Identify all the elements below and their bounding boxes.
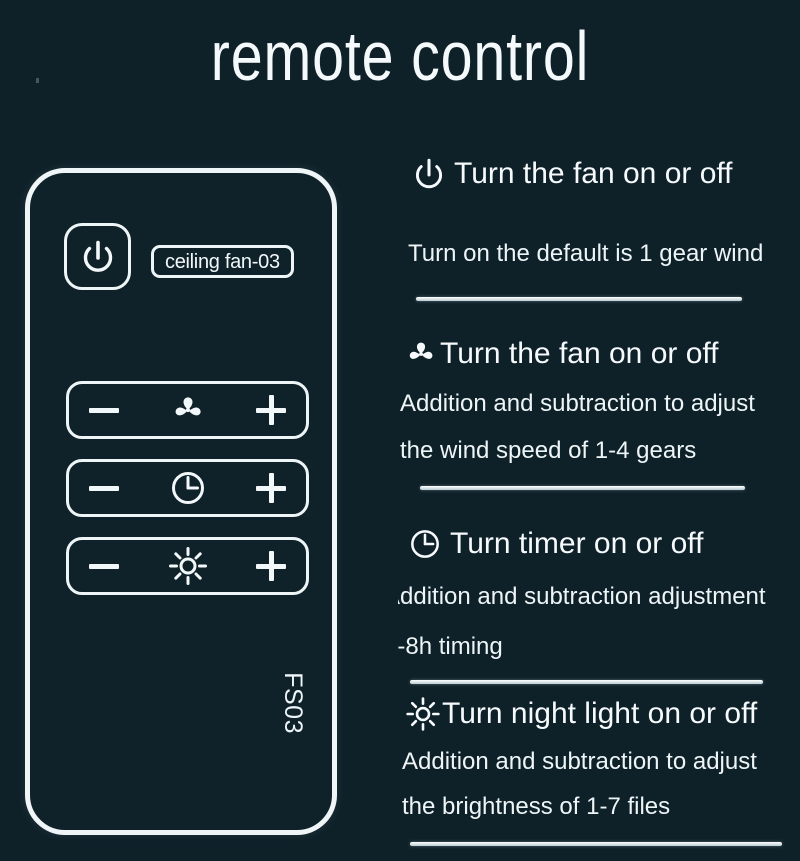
feature-divider [410, 842, 782, 846]
remote-body: ceiling fan-03 [25, 168, 337, 835]
feature-heading-row: Turn night light on or off [404, 695, 800, 733]
feature-block-fan: Turn the fan on or off Addition and subt… [398, 335, 800, 490]
brightness-icon [167, 545, 209, 587]
feature-list: Turn the fan on or off Turn on the defau… [398, 155, 800, 861]
power-icon [410, 155, 448, 193]
brightness-plus-button[interactable] [252, 547, 290, 585]
power-icon [78, 237, 118, 277]
feature-heading-row: Turn the fan on or off [410, 155, 800, 193]
feature-desc-line-1: Addition and subtraction adjustment [398, 580, 800, 613]
feature-block-timer: Turn timer on or off Addition and subtra… [398, 525, 800, 684]
feature-heading: Turn timer on or off [450, 526, 703, 562]
feature-desc-line-1: Addition and subtraction to adjust [400, 387, 800, 420]
feature-heading: Turn the fan on or off [440, 336, 719, 372]
feature-heading: Turn night light on or off [442, 696, 757, 732]
fan-icon [167, 389, 209, 431]
feature-heading-row: Turn timer on or off [406, 525, 800, 563]
feature-block-power: Turn the fan on or off Turn on the defau… [398, 155, 800, 301]
remote-control-infographic: remote control ceiling fan-03 [0, 0, 800, 861]
timer-plus-button[interactable] [252, 469, 290, 507]
feature-divider [420, 486, 745, 490]
page-title: remote control [72, 14, 728, 98]
timer-minus-button[interactable] [85, 469, 123, 507]
feature-block-night-light: Turn night light on or off Addition and … [398, 695, 800, 846]
model-label-text: ceiling fan-03 [165, 252, 280, 272]
fan-speed-row [66, 381, 309, 439]
brightness-icon [404, 695, 442, 733]
feature-divider [410, 680, 763, 684]
feature-heading: Turn the fan on or off [454, 156, 733, 192]
timer-row [66, 459, 309, 517]
model-label-pill: ceiling fan-03 [151, 245, 294, 278]
clock-icon [167, 467, 209, 509]
fan-speed-plus-button[interactable] [252, 391, 290, 429]
feature-heading-row: Turn the fan on or off [402, 335, 800, 373]
feature-desc-line-2: 1-8h timing [398, 630, 800, 663]
feature-desc-line-1: Turn on the default is 1 gear wind [408, 237, 800, 270]
feature-desc-line-2: the wind speed of 1-4 gears [400, 434, 800, 467]
fan-speed-minus-button[interactable] [85, 391, 123, 429]
brightness-minus-button[interactable] [85, 547, 123, 585]
feature-divider [416, 297, 742, 301]
fan-icon [402, 335, 440, 373]
remote-side-label: FS03 [280, 672, 305, 734]
brightness-row [66, 537, 309, 595]
decorative-speck [36, 78, 39, 83]
feature-desc-line-1: Addition and subtraction to adjust [402, 745, 800, 778]
feature-desc-line-2: the brightness of 1-7 files [402, 790, 800, 823]
clock-icon [406, 525, 444, 563]
power-button[interactable] [64, 223, 131, 290]
